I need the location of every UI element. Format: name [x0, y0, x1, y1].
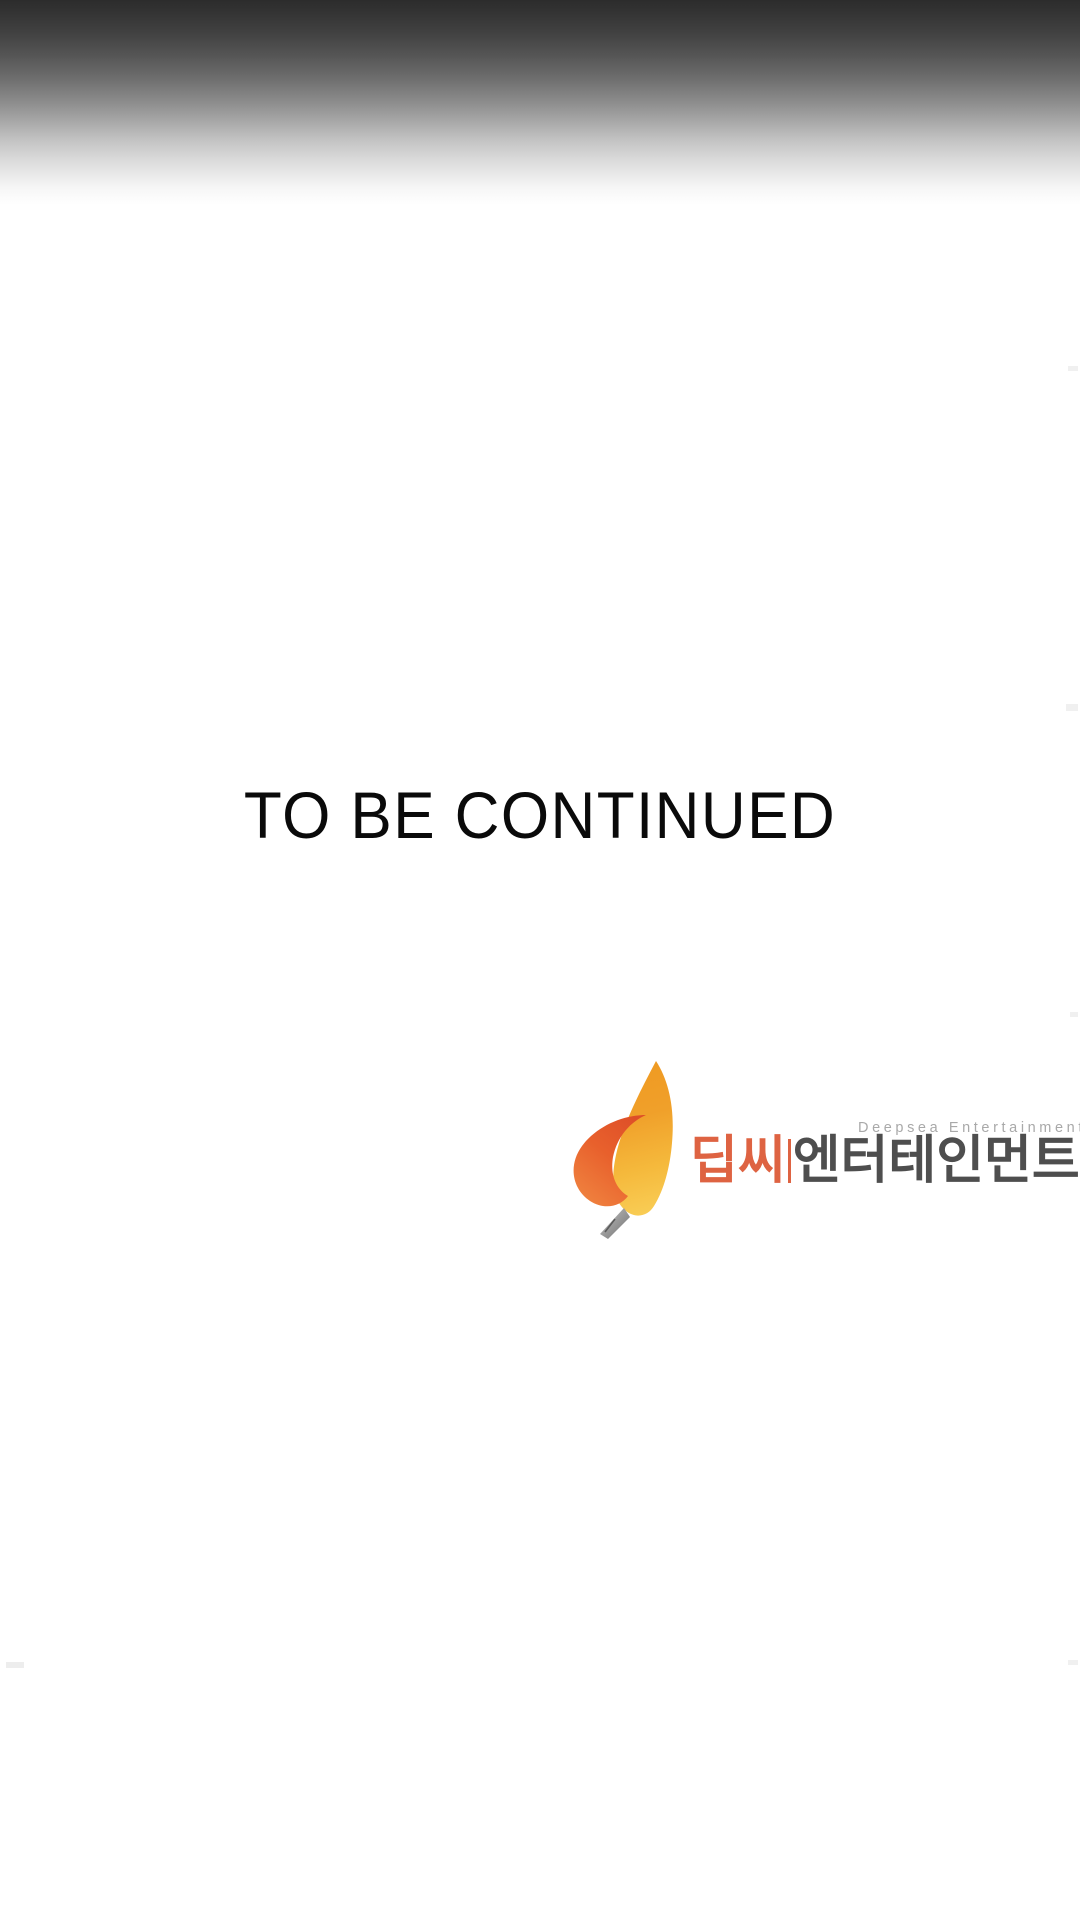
studio-logo: Deepsea Entertainment 딥씨엔터테인먼트 — [560, 1043, 980, 1243]
edge-artifact-right-lower — [1070, 1012, 1078, 1017]
pen-nib-shape — [600, 1208, 630, 1239]
flame-pen-nib-icon — [560, 1043, 708, 1243]
logo-name: 딥씨엔터테인먼트 — [690, 1135, 1080, 1187]
logo-name-divider — [788, 1139, 791, 1183]
logo-name-secondary: 엔터테인먼트 — [793, 1132, 1080, 1190]
top-gradient-band — [0, 0, 1080, 205]
page-title: TO BE CONTINUED — [244, 782, 836, 848]
caption-block: TO BE CONTINUED — [0, 782, 1080, 848]
edge-artifact-right-upper — [1068, 366, 1078, 371]
logo-name-primary: 딥씨 — [690, 1132, 786, 1190]
to-be-continued-screen: TO BE CONTINUED — [0, 0, 1080, 1920]
edge-artifact-left-bottom — [6, 1662, 24, 1668]
edge-artifact-right-bottom — [1068, 1660, 1078, 1665]
edge-artifact-right-mid — [1066, 704, 1078, 711]
logo-wordmark: Deepsea Entertainment 딥씨엔터테인먼트 — [690, 1121, 980, 1191]
